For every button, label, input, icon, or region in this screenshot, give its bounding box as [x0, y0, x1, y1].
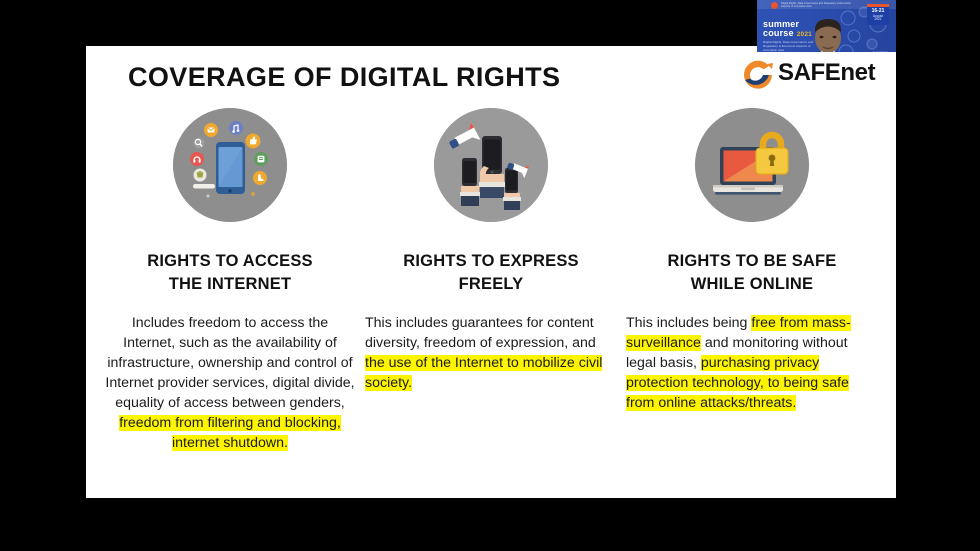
column-2-heading: RIGHTS TO EXPRESS FREELY: [403, 250, 578, 296]
hands-phones-megaphone-icon: [434, 108, 548, 222]
presentation-slide: COVERAGE OF DIGITAL RIGHTS: [86, 46, 896, 498]
safenet-logo-band: SAFEnet: [737, 52, 896, 94]
column-3-heading: RIGHTS TO BE SAFE WHILE ONLINE: [667, 250, 836, 296]
screen-stage: COVERAGE OF DIGITAL RIGHTS: [0, 0, 980, 551]
column-1-heading-line1: RIGHTS TO ACCESS: [147, 252, 312, 270]
institution-name-text: Digital Rights, Data Governance and Regu…: [781, 2, 851, 8]
column-2-body-highlight: the use of the Internet to mobilize civi…: [365, 355, 602, 391]
column-2-body: This includes guarantees for content div…: [365, 313, 617, 394]
column-2-heading-line2: FREELY: [459, 275, 524, 293]
smartphone-apps-icon: [173, 108, 287, 222]
safenet-logo-text: SAFEnet: [778, 59, 875, 87]
column-3-body-segment-1: This includes being: [626, 315, 751, 331]
background-event-title-line2: course: [763, 28, 794, 38]
column-2-body-plain: This includes guarantees for content div…: [365, 315, 596, 351]
column-1-body-plain: Includes freedom to access the Internet,…: [105, 315, 354, 412]
event-date-year: 2021: [867, 18, 889, 22]
safenet-swoosh-icon: [737, 53, 777, 93]
column-1-body-highlight: freedom from filtering and blocking, int…: [119, 415, 341, 451]
column-3-heading-line2: WHILE ONLINE: [691, 275, 813, 293]
page-title: COVERAGE OF DIGITAL RIGHTS: [128, 62, 560, 93]
column-rights-to-access: RIGHTS TO ACCESS THE INTERNET Includes f…: [104, 108, 356, 454]
institution-crest-icon: [771, 2, 778, 9]
event-date-badge: 16-21 August 2021: [867, 4, 889, 25]
column-1-heading: RIGHTS TO ACCESS THE INTERNET: [147, 250, 312, 296]
column-rights-to-express: RIGHTS TO EXPRESS FREELY This includes g…: [365, 108, 617, 454]
column-3-body: This includes being free from mass-surve…: [626, 313, 878, 414]
laptop-padlock-icon: [695, 108, 809, 222]
column-3-heading-line1: RIGHTS TO BE SAFE: [667, 252, 836, 270]
column-rights-to-be-safe: RIGHTS TO BE SAFE WHILE ONLINE This incl…: [626, 108, 878, 454]
column-1-heading-line2: THE INTERNET: [169, 275, 291, 293]
columns-container: RIGHTS TO ACCESS THE INTERNET Includes f…: [86, 108, 896, 454]
column-2-heading-line1: RIGHTS TO EXPRESS: [403, 252, 578, 270]
column-1-body: Includes freedom to access the Internet,…: [104, 313, 356, 454]
